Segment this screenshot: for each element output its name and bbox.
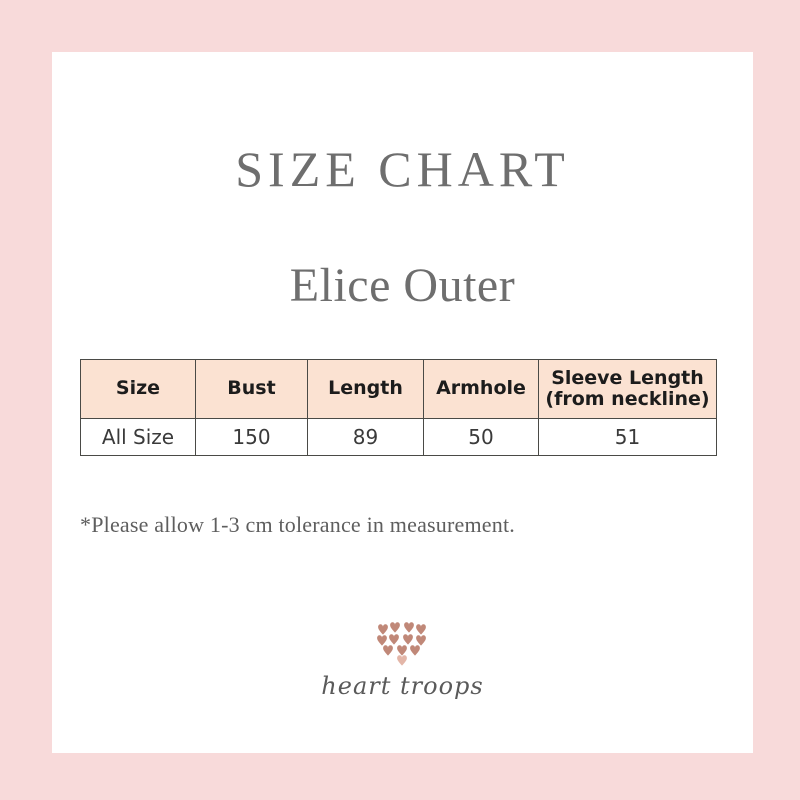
size-chart-table: Size Bust Length Armhole Sleeve Length (… xyxy=(80,359,717,456)
table-row: All Size 150 89 50 51 xyxy=(81,419,717,456)
column-header-sleeve-length-label: Sleeve Length xyxy=(539,368,716,389)
pink-frame: SIZE CHART Elice Outer Size Bust xyxy=(0,0,800,800)
tolerance-note: *Please allow 1-3 cm tolerance in measur… xyxy=(80,512,515,538)
column-header-sleeve-length-sublabel: (from neckline) xyxy=(539,389,716,410)
column-header-armhole-label: Armhole xyxy=(424,378,538,399)
heart-cluster-icon xyxy=(375,622,431,668)
column-header-length-label: Length xyxy=(308,378,423,399)
column-header-sleeve-length: Sleeve Length (from neckline) xyxy=(539,360,717,419)
column-header-length: Length xyxy=(308,360,424,419)
page-title: SIZE CHART xyxy=(52,140,753,198)
size-chart-card: SIZE CHART Elice Outer Size Bust xyxy=(52,52,753,753)
cell-armhole: 50 xyxy=(424,419,539,456)
cell-sleeve-length: 51 xyxy=(539,419,717,456)
column-header-bust: Bust xyxy=(196,360,308,419)
column-header-armhole: Armhole xyxy=(424,360,539,419)
product-name: Elice Outer xyxy=(52,258,753,313)
brand-wordmark: heart troops xyxy=(52,672,753,700)
table-header-row: Size Bust Length Armhole Sleeve Length (… xyxy=(81,360,717,419)
column-header-size-label: Size xyxy=(81,378,195,399)
cell-length: 89 xyxy=(308,419,424,456)
column-header-bust-label: Bust xyxy=(196,378,307,399)
column-header-size: Size xyxy=(81,360,196,419)
brand-logo: heart troops xyxy=(52,622,753,700)
cell-bust: 150 xyxy=(196,419,308,456)
cell-size: All Size xyxy=(81,419,196,456)
